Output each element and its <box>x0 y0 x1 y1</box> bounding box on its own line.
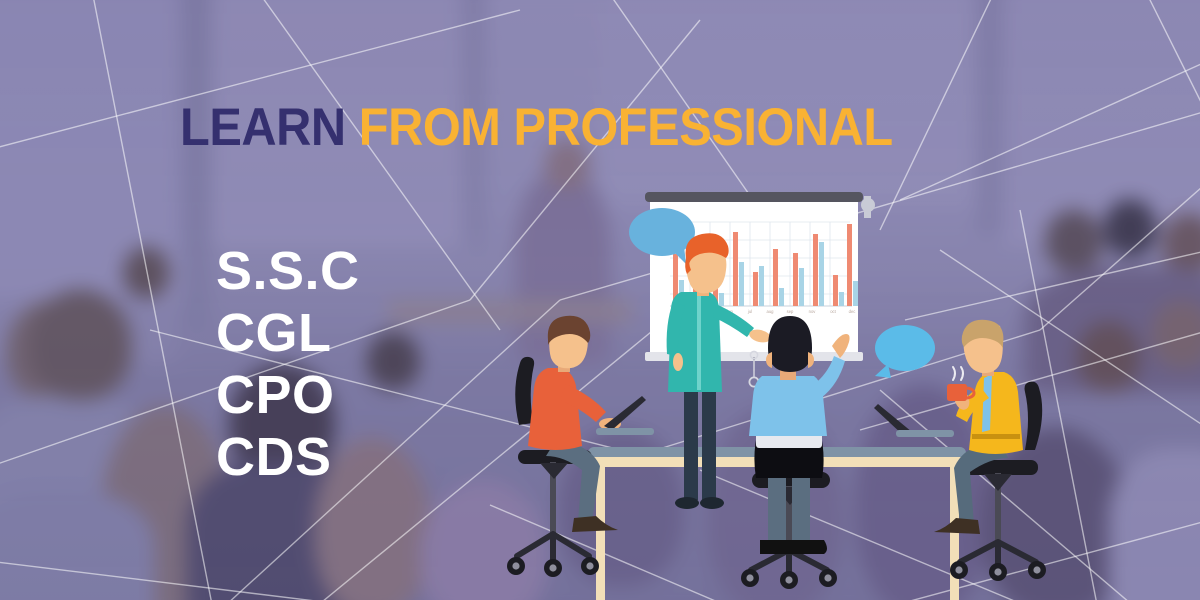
headline-part-learn: LEARN <box>180 98 359 157</box>
svg-text:aug: aug <box>767 309 775 314</box>
exam-list-item-cpo: CPO <box>216 364 360 426</box>
svg-text:jul: jul <box>747 309 752 314</box>
svg-text:dec: dec <box>849 309 856 314</box>
exam-list-item-cds: CDS <box>216 426 360 488</box>
exam-list-item-cgl: CGL <box>216 302 360 364</box>
classroom-illustration: apr may jun jul aug sep nov oct dec <box>0 0 1200 600</box>
speech-bubble-right-icon <box>875 325 935 378</box>
exam-list-item-ssc: S.S.C <box>216 240 360 302</box>
svg-text:nov: nov <box>809 309 817 314</box>
promo-banner: apr may jun jul aug sep nov oct dec <box>0 0 1200 600</box>
headline-part-from-professional: FROM PROFESSIONAL <box>359 98 893 157</box>
student-left-figure <box>507 316 654 577</box>
svg-text:oct: oct <box>830 309 836 314</box>
page-title: LEARN FROM PROFESSIONAL <box>180 101 893 154</box>
exam-list: S.S.C CGL CPO CDS <box>216 240 360 488</box>
office-chair-center <box>741 472 837 589</box>
svg-text:sep: sep <box>787 309 794 314</box>
